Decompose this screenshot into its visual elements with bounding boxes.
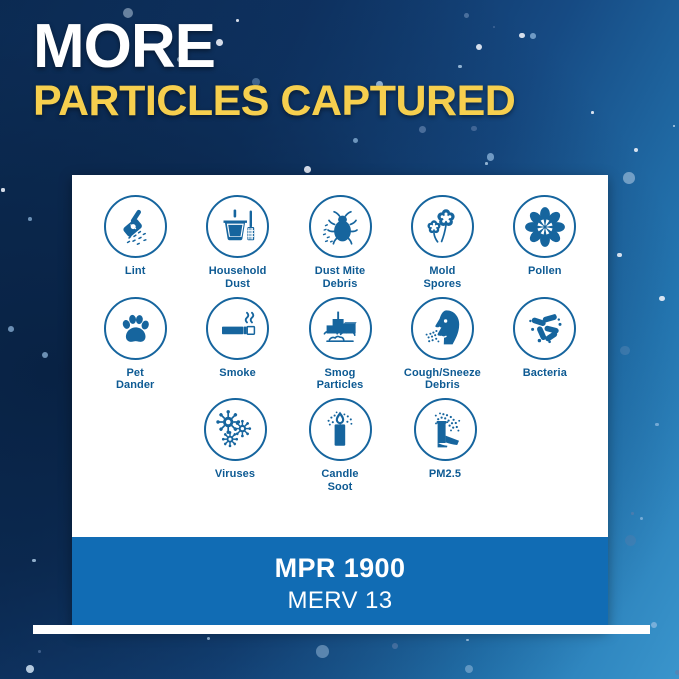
particle-item: SmogParticles [289,297,391,393]
particle-label: Viruses [215,468,255,481]
particle-label: Dust MiteDebris [315,265,365,291]
particle-label: SmogParticles [317,367,364,393]
virus-icon [204,398,267,461]
particle-label: PetDander [116,367,155,393]
city-smog-icon [309,297,372,360]
bacteria-rods-icon [513,297,576,360]
mpr-rating: MPR 1900 [275,553,406,584]
particle-label: Smoke [219,367,256,380]
bottom-rule [33,625,650,634]
particle-item: Smoke [186,297,288,380]
paw-print-icon [104,297,167,360]
pollen-flower-icon [513,195,576,258]
particle-grid: LintHouseholdDustDust MiteDebrisMoldSpor… [72,175,608,537]
particle-item: Bacteria [494,297,596,380]
particle-card: LintHouseholdDustDust MiteDebrisMoldSpor… [72,175,608,630]
rating-band: MPR 1900 MERV 13 [72,537,608,630]
particle-row-3: VirusesCandleSootPM2.5 [84,398,596,494]
particle-item: HouseholdDust [186,195,288,291]
particle-item: Dust MiteDebris [289,195,391,291]
particle-item: CandleSoot [288,398,393,494]
dust-mite-icon [309,195,372,258]
headline-block: MORE PARTICLES CAPTURED [33,17,653,124]
particle-row-1: LintHouseholdDustDust MiteDebrisMoldSpor… [84,195,596,291]
particle-item: PM2.5 [393,398,498,481]
cigarette-icon [206,297,269,360]
particle-item: Cough/SneezeDebris [391,297,493,393]
flowers-icon [411,195,474,258]
sneezing-face-icon [411,297,474,360]
particle-item: MoldSpores [391,195,493,291]
particle-item: PetDander [84,297,186,393]
headline-line-2: PARTICLES CAPTURED [33,80,653,124]
particle-item: Viruses [183,398,288,481]
particle-label: Lint [125,265,146,278]
merv-rating: MERV 13 [287,587,392,615]
particle-item: Pollen [494,195,596,278]
dustpan-brush-icon [206,195,269,258]
particle-item: Lint [84,195,186,278]
particle-label: Pollen [528,265,562,278]
lint-roller-icon [104,195,167,258]
particle-label: Cough/SneezeDebris [404,367,481,393]
particle-label: MoldSpores [423,265,461,291]
particle-label: PM2.5 [429,468,461,481]
particle-row-2: PetDanderSmokeSmogParticlesCough/SneezeD… [84,297,596,393]
particle-label: HouseholdDust [209,265,267,291]
particle-label: CandleSoot [321,468,358,494]
headline-line-1: MORE [33,17,653,78]
smokestack-icon [414,398,477,461]
particle-label: Bacteria [523,367,567,380]
candle-icon [309,398,372,461]
